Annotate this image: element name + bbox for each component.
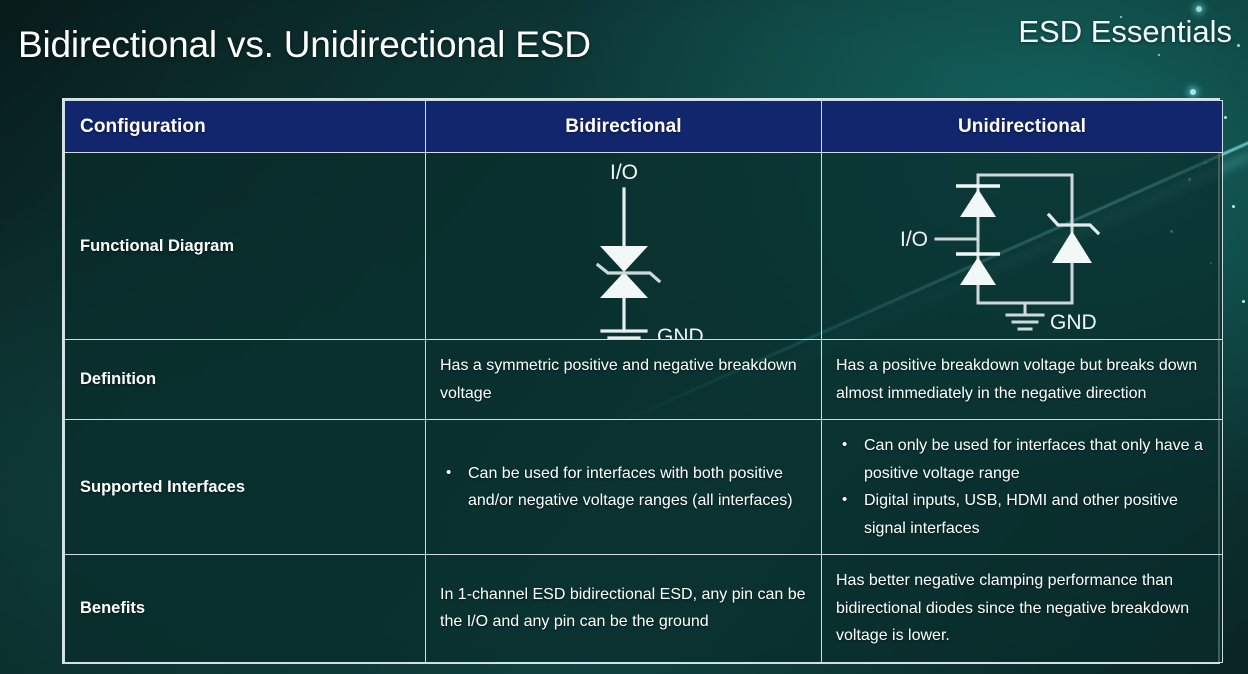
table-row: Supported Interfaces Can be used for int… [65,420,1223,555]
page-title: Bidirectional vs. Unidirectional ESD [18,24,591,66]
table-row: Definition Has a symmetric positive and … [65,340,1223,420]
list-item: Can only be used for interfaces that onl… [836,432,1208,487]
cell-bidirectional-diagram: I/O GND [426,153,822,340]
cell-unidirectional-diagram: I/O GND [822,153,1223,340]
column-header-configuration: Configuration [65,101,426,153]
row-label-definition: Definition [65,340,426,420]
list-item: Can be used for interfaces with both pos… [440,460,807,515]
cell-supported-interfaces-bidirectional: Can be used for interfaces with both pos… [426,420,822,555]
cell-definition-bidirectional: Has a symmetric positive and negative br… [426,340,822,420]
bullet-list: Can only be used for interfaces that onl… [836,432,1208,542]
bidirectional-esd-diode-icon: I/O GND [524,153,724,339]
unidirectional-esd-diode-icon: I/O GND [892,153,1152,339]
comparison-table: Configuration Bidirectional Unidirection… [62,98,1220,664]
table-row: Functional Diagram [65,153,1223,340]
io-label: I/O [900,228,928,251]
cell-benefits-bidirectional: In 1-channel ESD bidirectional ESD, any … [426,555,822,663]
list-item: Digital inputs, USB, HDMI and other posi… [836,487,1208,542]
cell-definition-unidirectional: Has a positive breakdown voltage but bre… [822,340,1223,420]
gnd-label: GND [657,325,704,339]
row-label-functional-diagram: Functional Diagram [65,153,426,340]
cell-supported-interfaces-unidirectional: Can only be used for interfaces that onl… [822,420,1223,555]
column-header-unidirectional: Unidirectional [822,101,1223,153]
table-header-row: Configuration Bidirectional Unidirection… [65,101,1223,153]
page-subtitle: ESD Essentials [1018,14,1232,50]
row-label-supported-interfaces: Supported Interfaces [65,420,426,555]
io-label: I/O [609,161,637,184]
table-row: Benefits In 1-channel ESD bidirectional … [65,555,1223,663]
column-header-bidirectional: Bidirectional [426,101,822,153]
bullet-list: Can be used for interfaces with both pos… [440,460,807,515]
cell-benefits-unidirectional: Has better negative clamping performance… [822,555,1223,663]
gnd-label: GND [1050,311,1097,334]
row-label-benefits: Benefits [65,555,426,663]
